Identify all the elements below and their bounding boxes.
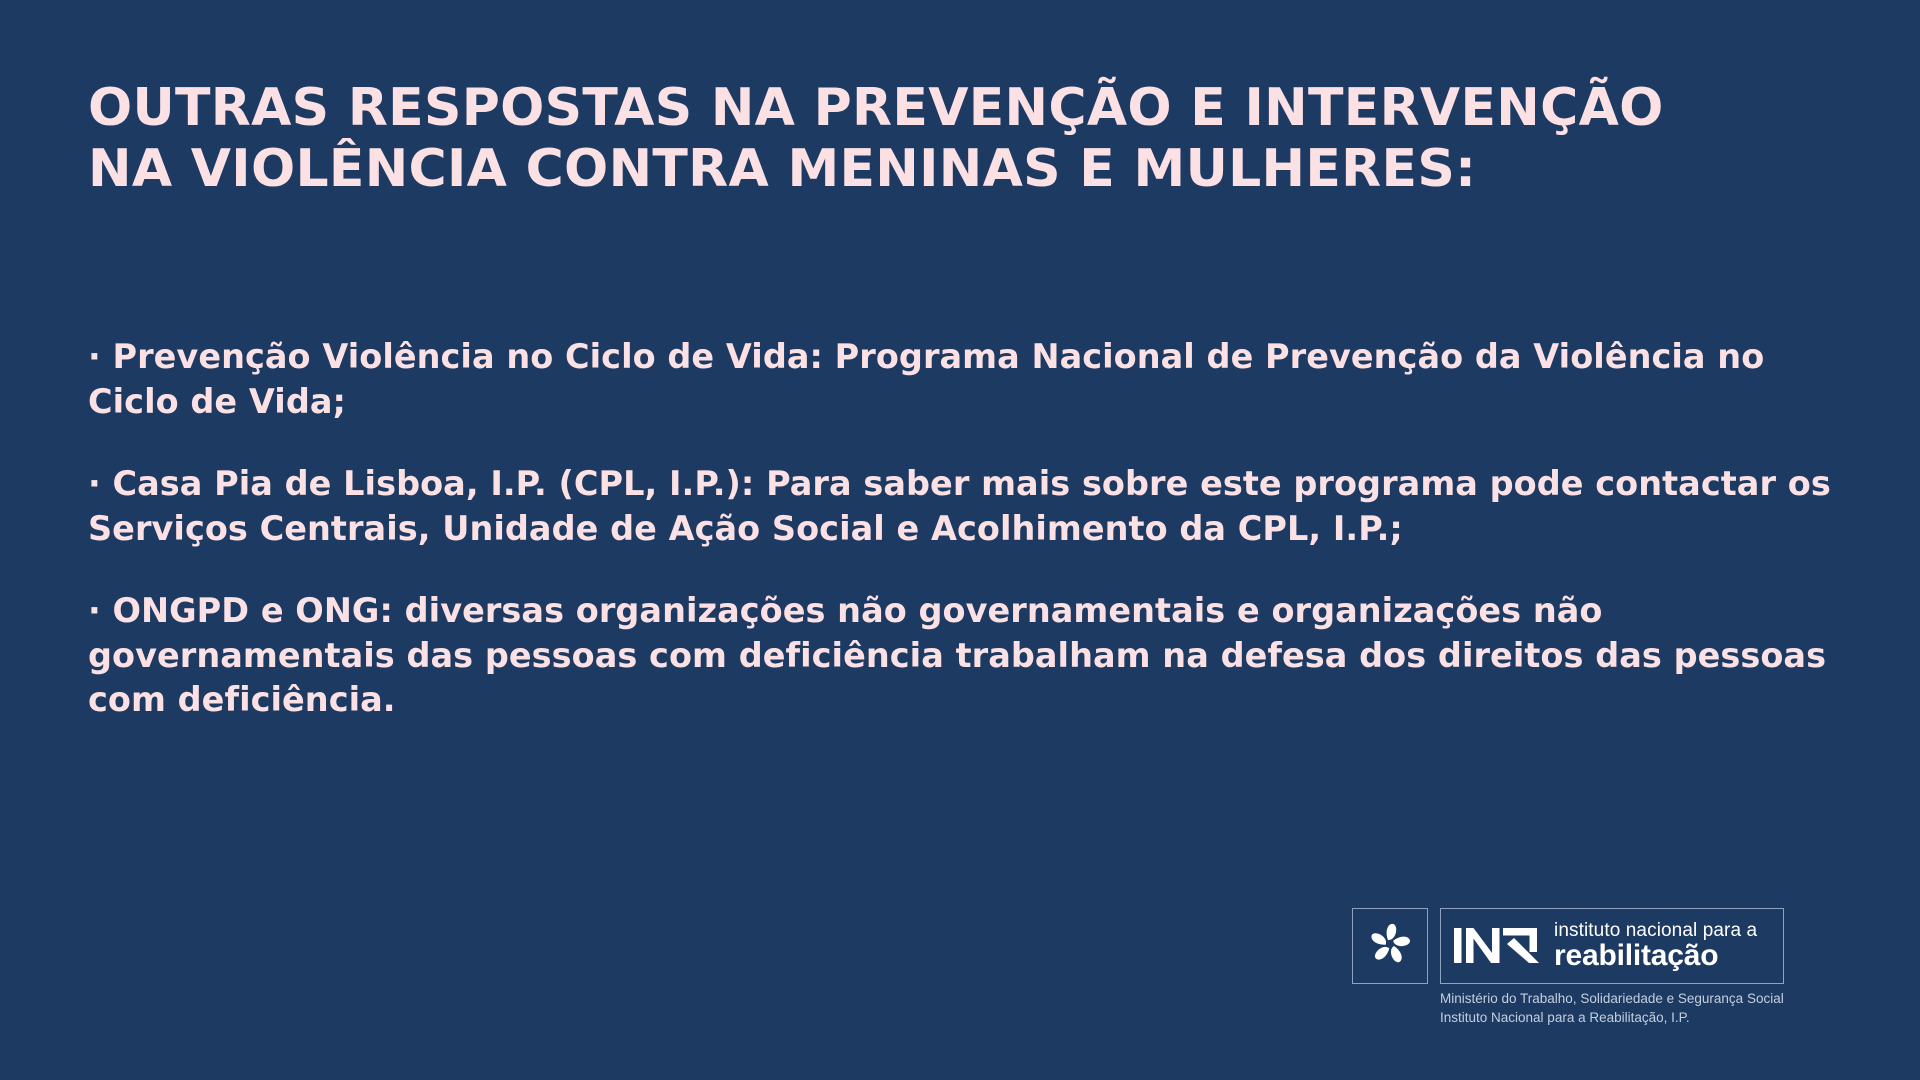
wordmark-line-top: instituto nacional para a: [1554, 921, 1757, 940]
ministry-fineprint-line-2: Instituto Nacional para a Reabilitação, …: [1440, 1009, 1784, 1028]
wordmark-column: instituto nacional para a reabilitação M…: [1440, 908, 1784, 1027]
wordmark-text: instituto nacional para a reabilitação: [1554, 921, 1757, 971]
portuguese-government-pinwheel-emblem-icon: [1364, 918, 1416, 975]
inr-logo-lockup: instituto nacional para a reabilitação M…: [1352, 908, 1784, 1027]
bullet-item-3: · ONGPD e ONG: diversas organizações não…: [88, 589, 1833, 723]
page-title: OUTRAS RESPOSTAS NA PREVENÇÃO E INTERVEN…: [88, 78, 1788, 201]
bullet-list: · Prevenção Violência no Ciclo de Vida: …: [88, 335, 1833, 723]
title-line-2: NA VIOLÊNCIA CONTRA MENINAS E MULHERES:: [88, 139, 1788, 200]
bullet-item-2: · Casa Pia de Lisboa, I.P. (CPL, I.P.): …: [88, 462, 1833, 551]
government-emblem-box: [1352, 908, 1428, 984]
bullet-item-1: · Prevenção Violência no Ciclo de Vida: …: [88, 335, 1833, 424]
inr-wordmark-box: instituto nacional para a reabilitação: [1440, 908, 1784, 984]
title-line-1: OUTRAS RESPOSTAS NA PREVENÇÃO E INTERVEN…: [88, 78, 1788, 139]
inr-monogram-icon: [1453, 921, 1543, 972]
wordmark-line-bottom: reabilitação: [1554, 941, 1757, 971]
ministry-fineprint-line-1: Ministério do Trabalho, Solidariedade e …: [1440, 990, 1784, 1009]
slide-canvas: OUTRAS RESPOSTAS NA PREVENÇÃO E INTERVEN…: [0, 0, 1920, 1080]
